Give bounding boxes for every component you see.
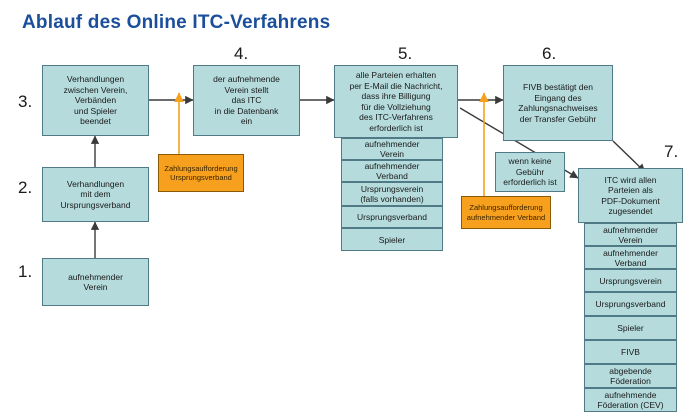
step-box-6[interactable]: FIVB bestätigt denEingang desZahlungsnac… bbox=[503, 65, 613, 141]
step-box-1[interactable]: aufnehmenderVerein bbox=[42, 258, 149, 306]
step5-party-2[interactable]: aufnehmenderVerband bbox=[341, 160, 443, 182]
step-number-2: 2. bbox=[18, 178, 32, 198]
step-number-7: 7. bbox=[664, 142, 678, 162]
payment-notice-2[interactable]: Zahlungsaufforderungaufnehmender Verband bbox=[461, 196, 551, 229]
step-number-5: 5. bbox=[398, 44, 412, 64]
step5-party-1[interactable]: aufnehmenderVerein bbox=[341, 138, 443, 160]
step7-party-5[interactable]: Spieler bbox=[584, 316, 677, 340]
step7-party-1[interactable]: aufnehmenderVerein bbox=[584, 223, 677, 246]
step7-party-2[interactable]: aufnehmenderVerband bbox=[584, 246, 677, 269]
payment-notice-1[interactable]: ZahlungsaufforderungUrsprungsverband bbox=[158, 154, 244, 192]
step-box-3[interactable]: Verhandlungenzwischen Verein,Verbändenun… bbox=[42, 65, 149, 136]
step-number-1: 1. bbox=[18, 262, 32, 282]
page-title: Ablauf des Online ITC-Verfahrens bbox=[22, 12, 330, 34]
step7-party-3[interactable]: Ursprungsverein bbox=[584, 269, 677, 292]
step5-party-3[interactable]: Ursprungsverein(falls vorhanden) bbox=[341, 182, 443, 206]
step-box-5[interactable]: alle Parteien erhaltenper E-Mail die Nac… bbox=[334, 65, 458, 138]
diagram-canvas: Ablauf des Online ITC-Verfahrens 1. 2. 3… bbox=[0, 0, 700, 416]
step-number-6: 6. bbox=[542, 44, 556, 64]
step5-party-5[interactable]: Spieler bbox=[341, 228, 443, 251]
step-box-4[interactable]: der aufnehmendeVerein stelltdas ITCin di… bbox=[193, 65, 300, 136]
step-number-3: 3. bbox=[18, 92, 32, 112]
step-box-7[interactable]: ITC wird allenParteien alsPDF-Dokumentzu… bbox=[578, 168, 683, 223]
condition-note-box[interactable]: wenn keineGebührerforderlich ist bbox=[495, 152, 565, 192]
step-number-4: 4. bbox=[234, 44, 248, 64]
step7-party-8[interactable]: aufnehmendeFöderation (CEV) bbox=[584, 388, 677, 412]
step-box-2[interactable]: Verhandlungenmit demUrsprungsverband bbox=[42, 167, 149, 222]
step5-party-4[interactable]: Ursprungsverband bbox=[341, 206, 443, 228]
step7-party-4[interactable]: Ursprungsverband bbox=[584, 292, 677, 316]
step7-party-7[interactable]: abgebendeFöderation bbox=[584, 364, 677, 388]
step7-party-6[interactable]: FIVB bbox=[584, 340, 677, 364]
